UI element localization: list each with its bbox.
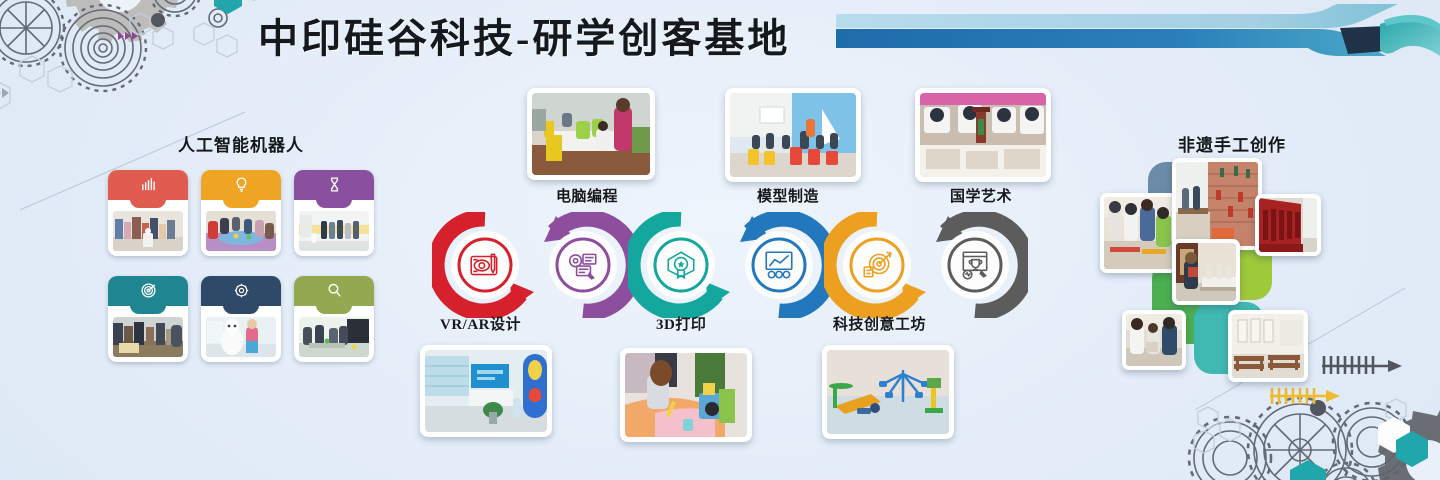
photo-3d-printing[interactable] <box>620 348 752 442</box>
ai-card-4-photo <box>113 317 183 357</box>
vr-design-icon <box>432 212 538 318</box>
poster-canvas: 中印硅谷科技-研学创客基地 人 <box>0 0 1440 480</box>
ai-card-grid <box>108 170 374 362</box>
ai-card-3-photo <box>299 211 369 251</box>
model-chart-icon <box>726 212 832 318</box>
ai-card-1-tab <box>130 194 166 208</box>
craft-photo-3[interactable] <box>1255 194 1321 256</box>
process-label-1: VR/AR设计 <box>440 313 521 334</box>
photo-computer-programming[interactable] <box>527 88 655 180</box>
ai-card-2[interactable] <box>201 170 281 256</box>
page-title: 中印硅谷科技-研学创客基地 <box>258 6 790 64</box>
process-step-1[interactable] <box>432 212 538 318</box>
target-icon <box>108 278 188 302</box>
hourglass-icon <box>294 172 374 196</box>
photo-model-making[interactable] <box>725 88 861 182</box>
ai-card-6[interactable] <box>294 276 374 362</box>
craft-photo-6[interactable] <box>1228 310 1308 382</box>
process-ring-row <box>432 212 1052 318</box>
process-step-2[interactable] <box>530 212 636 318</box>
craft-photo-2[interactable] <box>1172 158 1262 250</box>
section-heading-craft: 非遗手工创作 <box>1178 131 1286 156</box>
process-label-3: 3D打印 <box>656 313 706 334</box>
trophy-screen-icon <box>922 212 1028 318</box>
process-label-4: 模型制造 <box>757 185 819 206</box>
bar-chart-icon <box>108 172 188 196</box>
blue-ribbon-banner <box>820 4 1440 74</box>
ai-card-3-tab <box>316 194 352 208</box>
ai-card-6-tab <box>316 300 352 314</box>
award-badge-icon <box>628 212 734 318</box>
craft-photo-1[interactable] <box>1100 193 1178 273</box>
process-label-5: 科技创意工坊 <box>833 313 926 334</box>
ai-card-5-photo <box>206 317 276 357</box>
ai-card-2-photo <box>206 211 276 251</box>
photo-tech-workshop[interactable] <box>822 345 954 439</box>
craft-photo-4[interactable] <box>1172 239 1240 305</box>
process-label-2: 电脑编程 <box>556 185 618 206</box>
ai-card-2-tab <box>223 194 259 208</box>
photo-vr-ar-design[interactable] <box>420 345 552 437</box>
photo-classical-arts[interactable] <box>915 88 1051 182</box>
ai-card-1-photo <box>113 211 183 251</box>
process-step-4[interactable] <box>726 212 832 318</box>
ai-card-5-tab <box>223 300 259 314</box>
computer-code-icon <box>530 212 636 318</box>
process-label-6: 国学艺术 <box>950 185 1012 206</box>
ai-card-3[interactable] <box>294 170 374 256</box>
ai-card-1[interactable] <box>108 170 188 256</box>
ai-card-6-photo <box>299 317 369 357</box>
section-heading-ai: 人工智能机器人 <box>178 131 304 156</box>
craft-photo-5[interactable] <box>1122 310 1186 370</box>
magnifier-icon <box>294 278 374 302</box>
craft-photo-cluster <box>1100 160 1330 375</box>
target-tech-icon <box>824 212 930 318</box>
ai-card-5[interactable] <box>201 276 281 362</box>
process-step-5[interactable] <box>824 212 930 318</box>
ai-card-4[interactable] <box>108 276 188 362</box>
process-step-3[interactable] <box>628 212 734 318</box>
ai-card-4-tab <box>130 300 166 314</box>
process-step-6[interactable] <box>922 212 1028 318</box>
gear-icon <box>201 278 281 302</box>
lightbulb-icon <box>201 172 281 196</box>
